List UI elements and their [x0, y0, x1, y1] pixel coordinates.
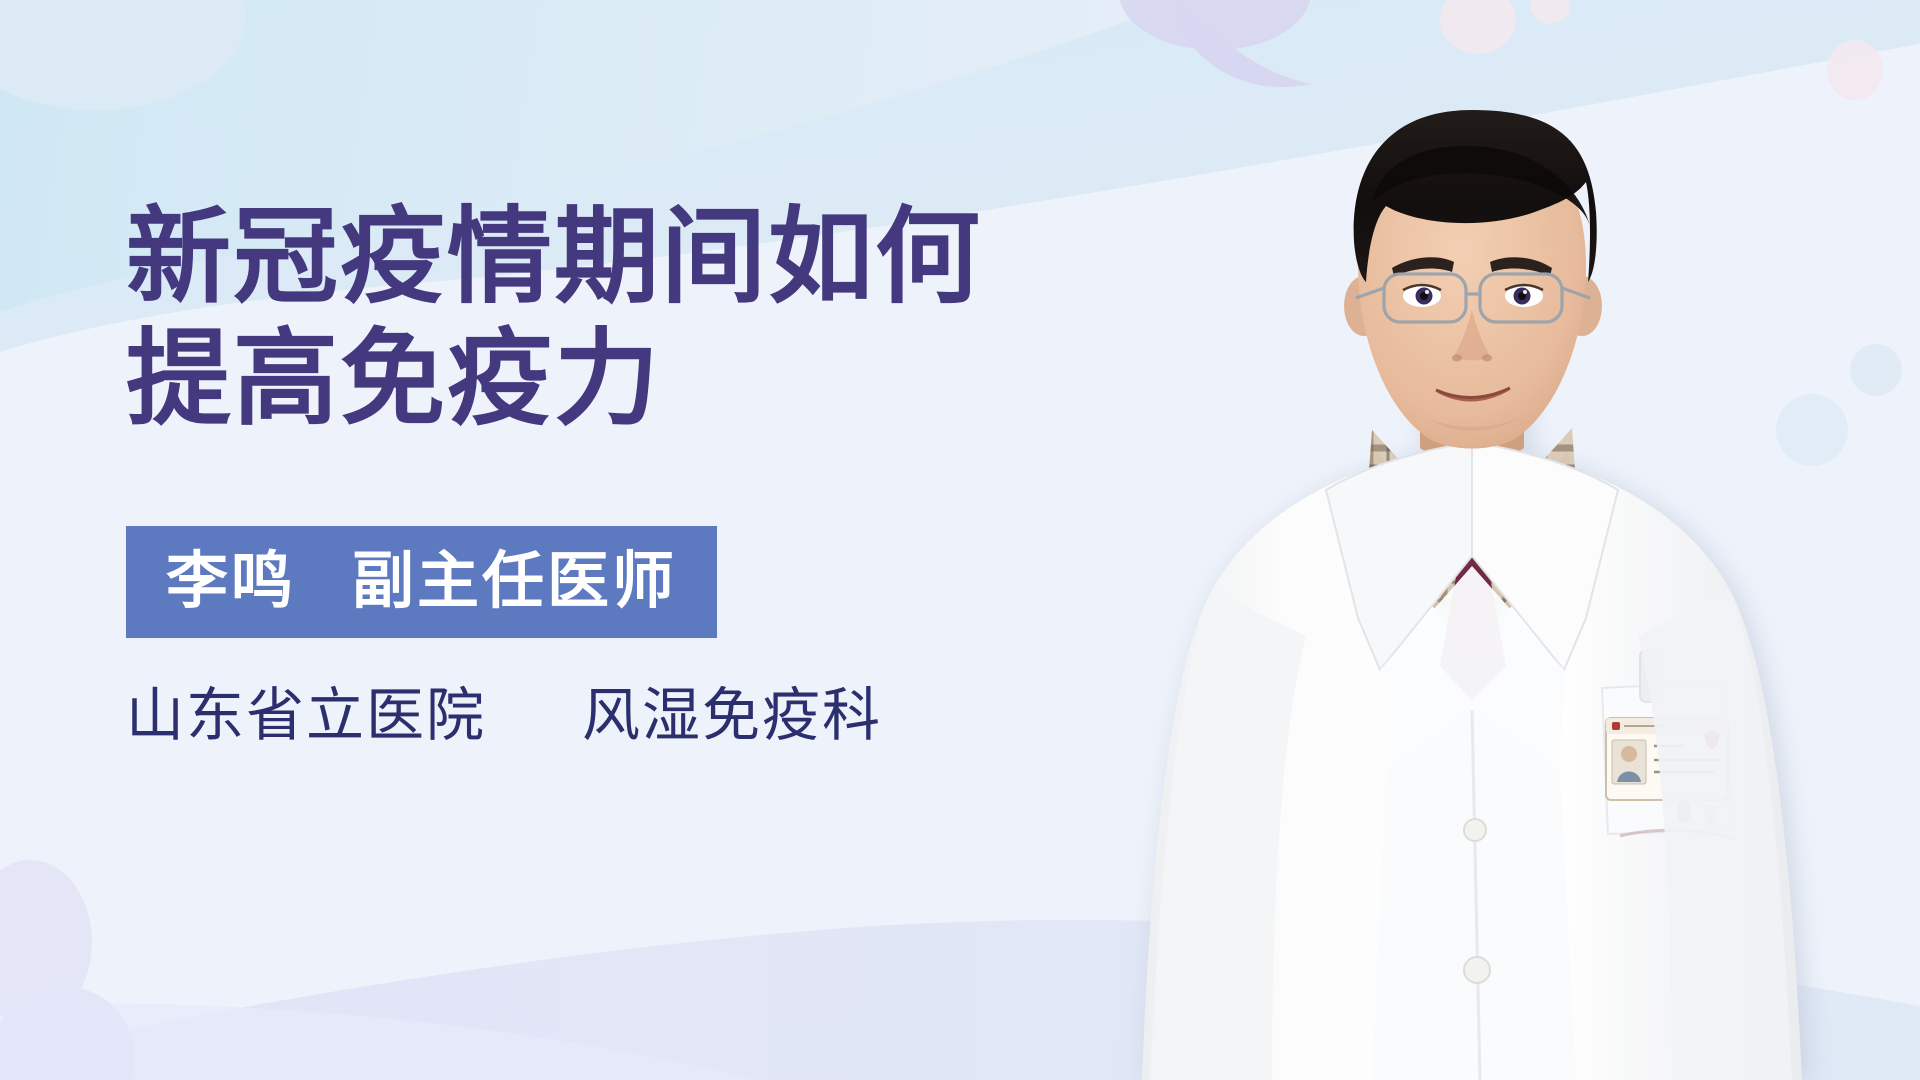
affiliation-line: 山东省立医院风湿免疫科: [126, 684, 1136, 748]
page-title-line-2: 提高免疫力: [126, 318, 1136, 440]
page-title-line-1: 新冠疫情期间如何: [126, 196, 1136, 318]
speaker-badge: 李鸣副主任医师: [126, 526, 717, 638]
text-column: 新冠疫情期间如何 提高免疫力 李鸣副主任医师 山东省立医院风湿免疫科: [126, 196, 1136, 748]
doctor-portrait: [1020, 70, 1920, 1080]
speaker-rank: 副主任医师: [352, 544, 677, 617]
doctor-head: [1344, 110, 1602, 449]
coat-button-1: [1464, 819, 1486, 841]
title-card: 新冠疫情期间如何 提高免疫力 李鸣副主任医师 山东省立医院风湿免疫科: [0, 0, 1920, 1080]
speaker-department: 风湿免疫科: [582, 681, 882, 749]
doctor-portrait-illustration: [1020, 70, 1920, 1080]
id-badge-logo: [1612, 722, 1620, 730]
speaker-name: 李鸣: [166, 544, 296, 617]
speaker-hospital: 山东省立医院: [126, 681, 486, 749]
coat-button-2: [1464, 957, 1490, 983]
